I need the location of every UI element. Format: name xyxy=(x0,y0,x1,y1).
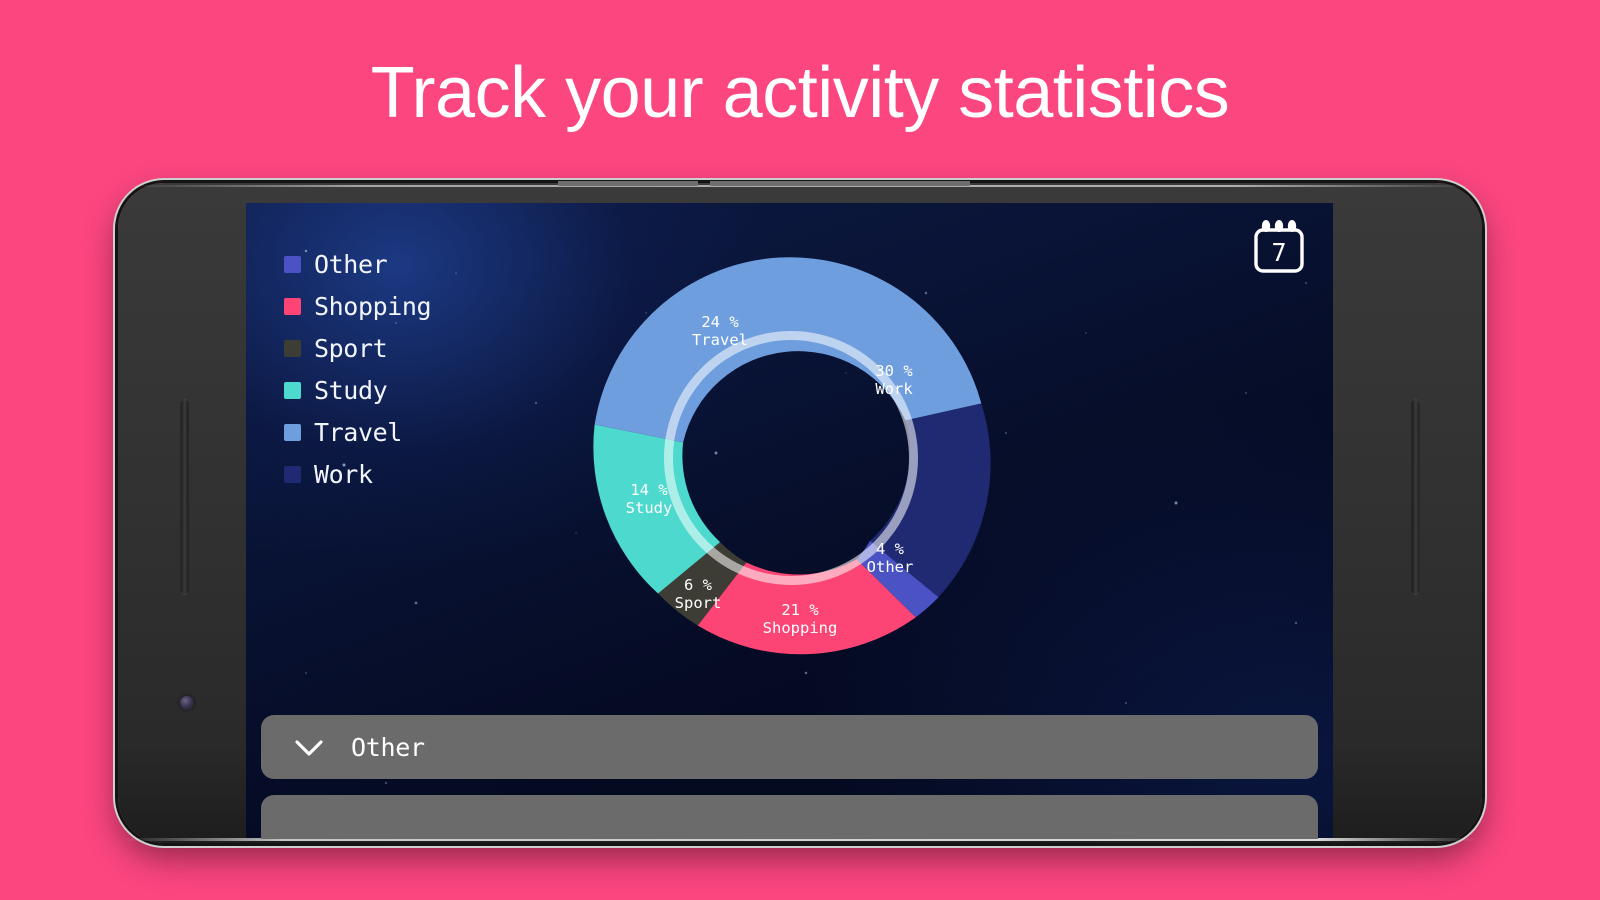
donut-label-work: 30 % Work xyxy=(875,362,913,398)
svg-text:6 %: 6 % xyxy=(684,576,713,594)
legend-label-shopping: Shopping xyxy=(314,294,431,319)
svg-text:Sport: Sport xyxy=(675,594,722,612)
legend-item-shopping[interactable]: Shopping xyxy=(284,293,431,319)
legend-item-study[interactable]: Study xyxy=(284,377,431,403)
svg-text:Shopping: Shopping xyxy=(763,619,838,637)
category-panel-other[interactable]: Other xyxy=(261,715,1318,779)
legend-swatch-shopping xyxy=(284,298,301,315)
front-camera-lens xyxy=(180,696,194,710)
category-panel-next[interactable] xyxy=(261,795,1318,839)
donut-slice-travel[interactable] xyxy=(595,257,982,442)
legend-label-other: Other xyxy=(314,252,387,277)
svg-text:14 %: 14 % xyxy=(630,481,668,499)
legend-item-travel[interactable]: Travel xyxy=(284,419,431,445)
svg-text:Work: Work xyxy=(875,380,913,398)
legend-swatch-study xyxy=(284,382,301,399)
promo-graphic: Track your activity statistics Other Sho… xyxy=(0,0,1600,900)
chart-legend: Other Shopping Sport Study Travel xyxy=(284,251,431,487)
svg-text:30 %: 30 % xyxy=(875,362,913,380)
activity-donut-chart[interactable]: 30 % Work 4 % Other 21 % Shopping 6 % Sp… xyxy=(581,248,1001,668)
svg-text:Other: Other xyxy=(867,558,914,576)
chevron-down-icon[interactable] xyxy=(291,729,327,765)
legend-label-travel: Travel xyxy=(314,420,402,445)
legend-label-sport: Sport xyxy=(314,336,387,361)
legend-swatch-work xyxy=(284,466,301,483)
category-panel-label-other: Other xyxy=(351,733,425,762)
legend-label-study: Study xyxy=(314,378,387,403)
svg-text:Study: Study xyxy=(626,499,673,517)
page-title: Track your activity statistics xyxy=(0,52,1600,134)
legend-item-work[interactable]: Work xyxy=(284,461,431,487)
calendar-day-number: 7 xyxy=(1271,238,1286,267)
legend-swatch-other xyxy=(284,256,301,273)
device-volume-button[interactable] xyxy=(180,399,189,595)
donut-label-study: 14 % Study xyxy=(626,481,673,517)
device-top-notch-right xyxy=(710,181,970,186)
device-power-button[interactable] xyxy=(1411,399,1420,595)
svg-text:4 %: 4 % xyxy=(876,540,905,558)
legend-label-work: Work xyxy=(314,462,373,487)
svg-text:Travel: Travel xyxy=(692,331,748,349)
legend-item-other[interactable]: Other xyxy=(284,251,431,277)
phone-screen: Other Shopping Sport Study Travel xyxy=(246,203,1333,839)
legend-item-sport[interactable]: Sport xyxy=(284,335,431,361)
device-top-notch-left xyxy=(558,181,698,186)
svg-text:21 %: 21 % xyxy=(781,601,819,619)
legend-swatch-travel xyxy=(284,424,301,441)
svg-text:24 %: 24 % xyxy=(701,313,739,331)
legend-swatch-sport xyxy=(284,340,301,357)
phone-device-frame: Other Shopping Sport Study Travel xyxy=(118,183,1482,843)
donut-svg: 30 % Work 4 % Other 21 % Shopping 6 % Sp… xyxy=(581,248,1001,668)
calendar-icon[interactable]: 7 xyxy=(1247,216,1311,280)
